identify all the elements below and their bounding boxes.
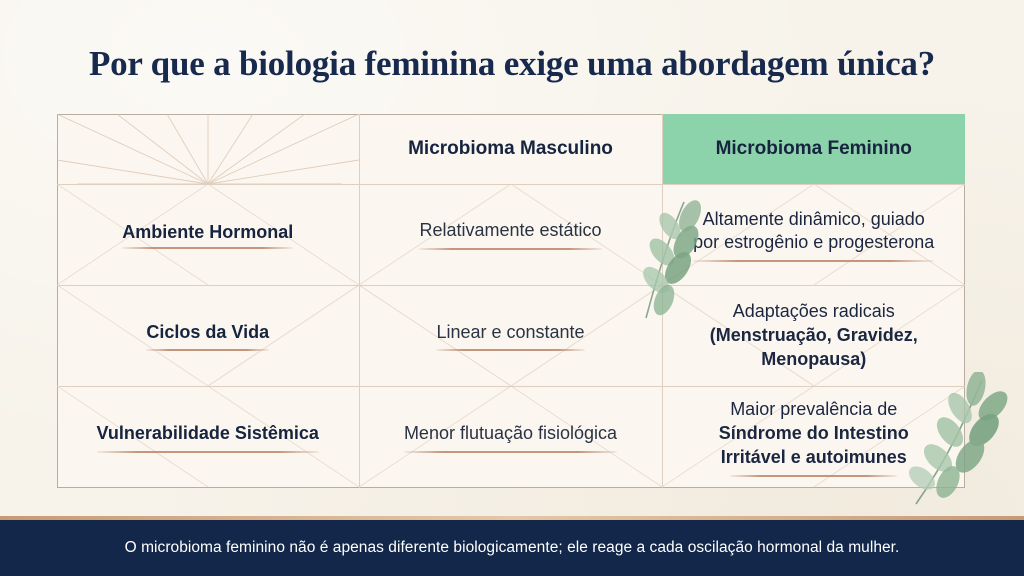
cell-female-line: (Menstruação, Gravidez,	[710, 325, 918, 345]
header-cell-female: Microbioma Feminino	[662, 114, 965, 184]
row-label-text: Ambiente Hormonal	[122, 221, 293, 249]
row-label-text: Vulnerabilidade Sistêmica	[97, 422, 319, 453]
caption-text: O microbioma feminino não é apenas difer…	[101, 539, 924, 557]
comparison-table-wrapper: Microbioma Masculino Microbioma Feminino…	[57, 114, 965, 488]
table-header-row: Microbioma Masculino Microbioma Feminino	[57, 114, 965, 184]
row-label-cell: Ambiente Hormonal	[57, 184, 359, 285]
cell-female-line: Síndrome do Intestino	[719, 423, 909, 443]
cell-female-line: Altamente dinâmico, guiado	[703, 209, 925, 229]
cell-female: Altamente dinâmico, guiado por estrogêni…	[662, 184, 965, 285]
cell-male: Linear e constante	[359, 285, 662, 386]
table-row: Ambiente Hormonal Relativamente estático…	[57, 184, 965, 285]
cell-female-text: Adaptações radicais (Menstruação, Gravid…	[710, 301, 918, 369]
page-title: Por que a biologia feminina exige uma ab…	[0, 44, 1024, 84]
table-row: Vulnerabilidade Sistêmica Menor flutuaçã…	[57, 387, 965, 488]
cell-male: Menor flutuação fisiológica	[359, 387, 662, 488]
cell-female-text: Altamente dinâmico, guiado por estrogêni…	[693, 208, 934, 263]
cell-female-line: Irritável e autoimunes	[721, 447, 907, 467]
cell-female-line: Adaptações radicais	[733, 301, 895, 321]
row-label-cell: Ciclos da Vida	[57, 285, 359, 386]
cell-male: Relativamente estático	[359, 184, 662, 285]
header-cell-male: Microbioma Masculino	[359, 114, 662, 184]
slide-canvas: Por que a biologia feminina exige uma ab…	[0, 0, 1024, 576]
cell-female-line: por estrogênio e progesterona	[693, 232, 934, 252]
cell-male-text: Menor flutuação fisiológica	[404, 422, 617, 453]
comparison-table: Microbioma Masculino Microbioma Feminino…	[57, 114, 965, 488]
cell-female-line: Menopausa)	[761, 349, 866, 369]
cell-female-text: Maior prevalência de Síndrome do Intesti…	[719, 398, 909, 476]
cell-female: Adaptações radicais (Menstruação, Gravid…	[662, 285, 965, 386]
cell-female-line: Maior prevalência de	[730, 399, 897, 419]
cell-male-text: Relativamente estático	[419, 219, 601, 250]
cell-male-text: Linear e constante	[436, 321, 584, 352]
header-cell-empty	[57, 114, 359, 184]
row-label-cell: Vulnerabilidade Sistêmica	[57, 387, 359, 488]
cell-female: Maior prevalência de Síndrome do Intesti…	[662, 387, 965, 488]
row-label-text: Ciclos da Vida	[146, 321, 269, 352]
caption-band: O microbioma feminino não é apenas difer…	[0, 520, 1024, 576]
table-row: Ciclos da Vida Linear e constante Adapta…	[57, 285, 965, 386]
